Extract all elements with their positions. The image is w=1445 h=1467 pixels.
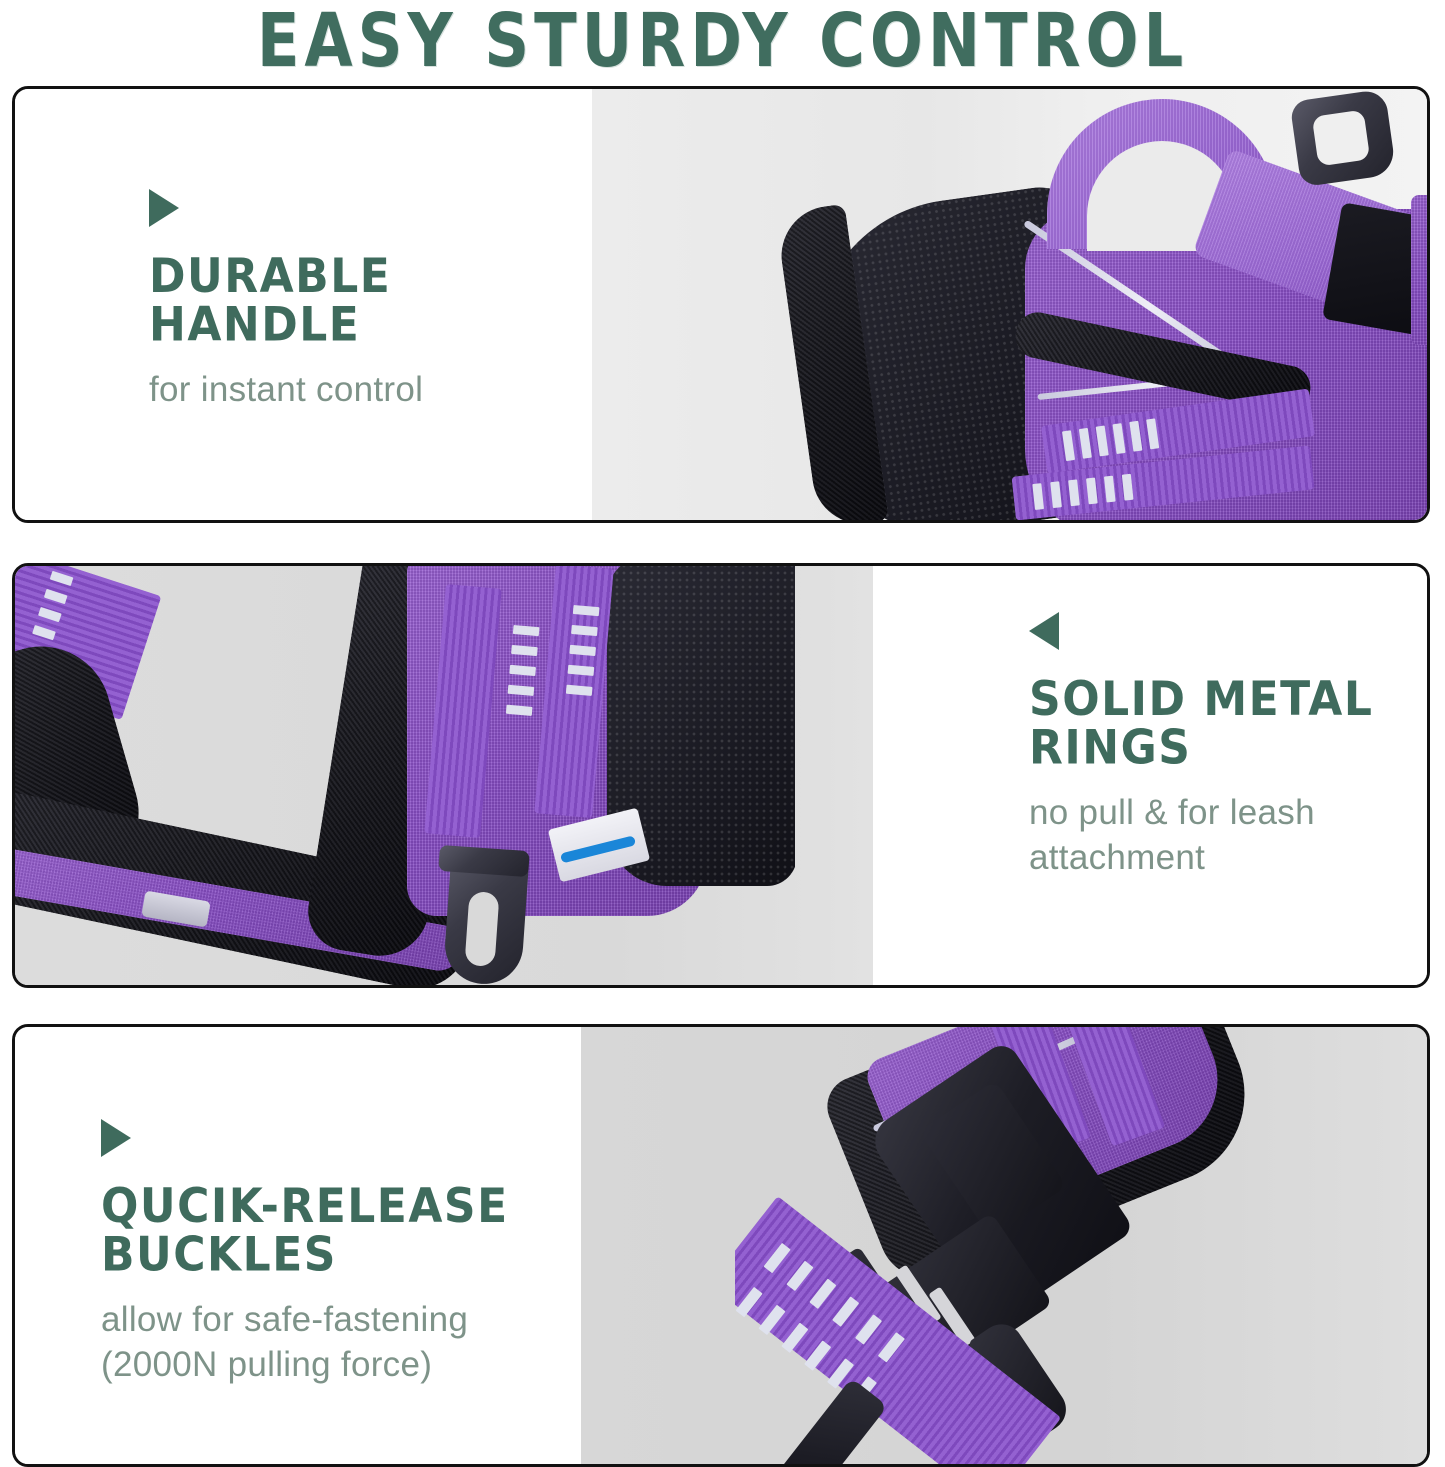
- harness-side-panel: [1411, 195, 1427, 345]
- panel-subline: for instant control: [149, 367, 423, 413]
- panel-subline: allow for safe-fastening (2000N pulling …: [101, 1297, 509, 1388]
- arrow-right-icon: [149, 189, 179, 227]
- panel-subline: no pull & for leash attachment: [1029, 790, 1373, 881]
- metal-d-ring-hole: [1312, 110, 1370, 167]
- arrow-left-icon: [1029, 612, 1059, 650]
- arrow-right-icon: [101, 1119, 131, 1157]
- feature-panel-durable-handle: DURABLE HANDLE for instant control: [12, 86, 1430, 523]
- feature-panel-list: DURABLE HANDLE for instant control: [12, 86, 1433, 1467]
- product-photo-durable-handle: [775, 89, 1427, 520]
- feature-panel-quick-release-buckles: QUCIK-RELEASE BUCKLES allow for safe-fas…: [12, 1024, 1430, 1467]
- product-photo-quick-release-buckle: [735, 1027, 1427, 1464]
- page-title: EASY STURDY CONTROL: [7, 0, 1438, 87]
- panel-text-quick-release-buckles: QUCIK-RELEASE BUCKLES allow for safe-fas…: [101, 1119, 509, 1388]
- panel-headline: QUCIK-RELEASE BUCKLES: [101, 1183, 509, 1280]
- panel-text-metal-rings: SOLID METAL RINGS no pull & for leash at…: [1029, 612, 1373, 881]
- feature-panel-solid-metal-rings: SOLID METAL RINGS no pull & for leash at…: [12, 563, 1430, 988]
- metal-d-ring-hole: [464, 891, 499, 967]
- panel-text-durable-handle: DURABLE HANDLE for instant control: [149, 189, 423, 412]
- panel-headline: SOLID METAL RINGS: [1029, 676, 1373, 773]
- product-photo-metal-rings: [15, 566, 795, 985]
- panel-headline: DURABLE HANDLE: [149, 253, 423, 350]
